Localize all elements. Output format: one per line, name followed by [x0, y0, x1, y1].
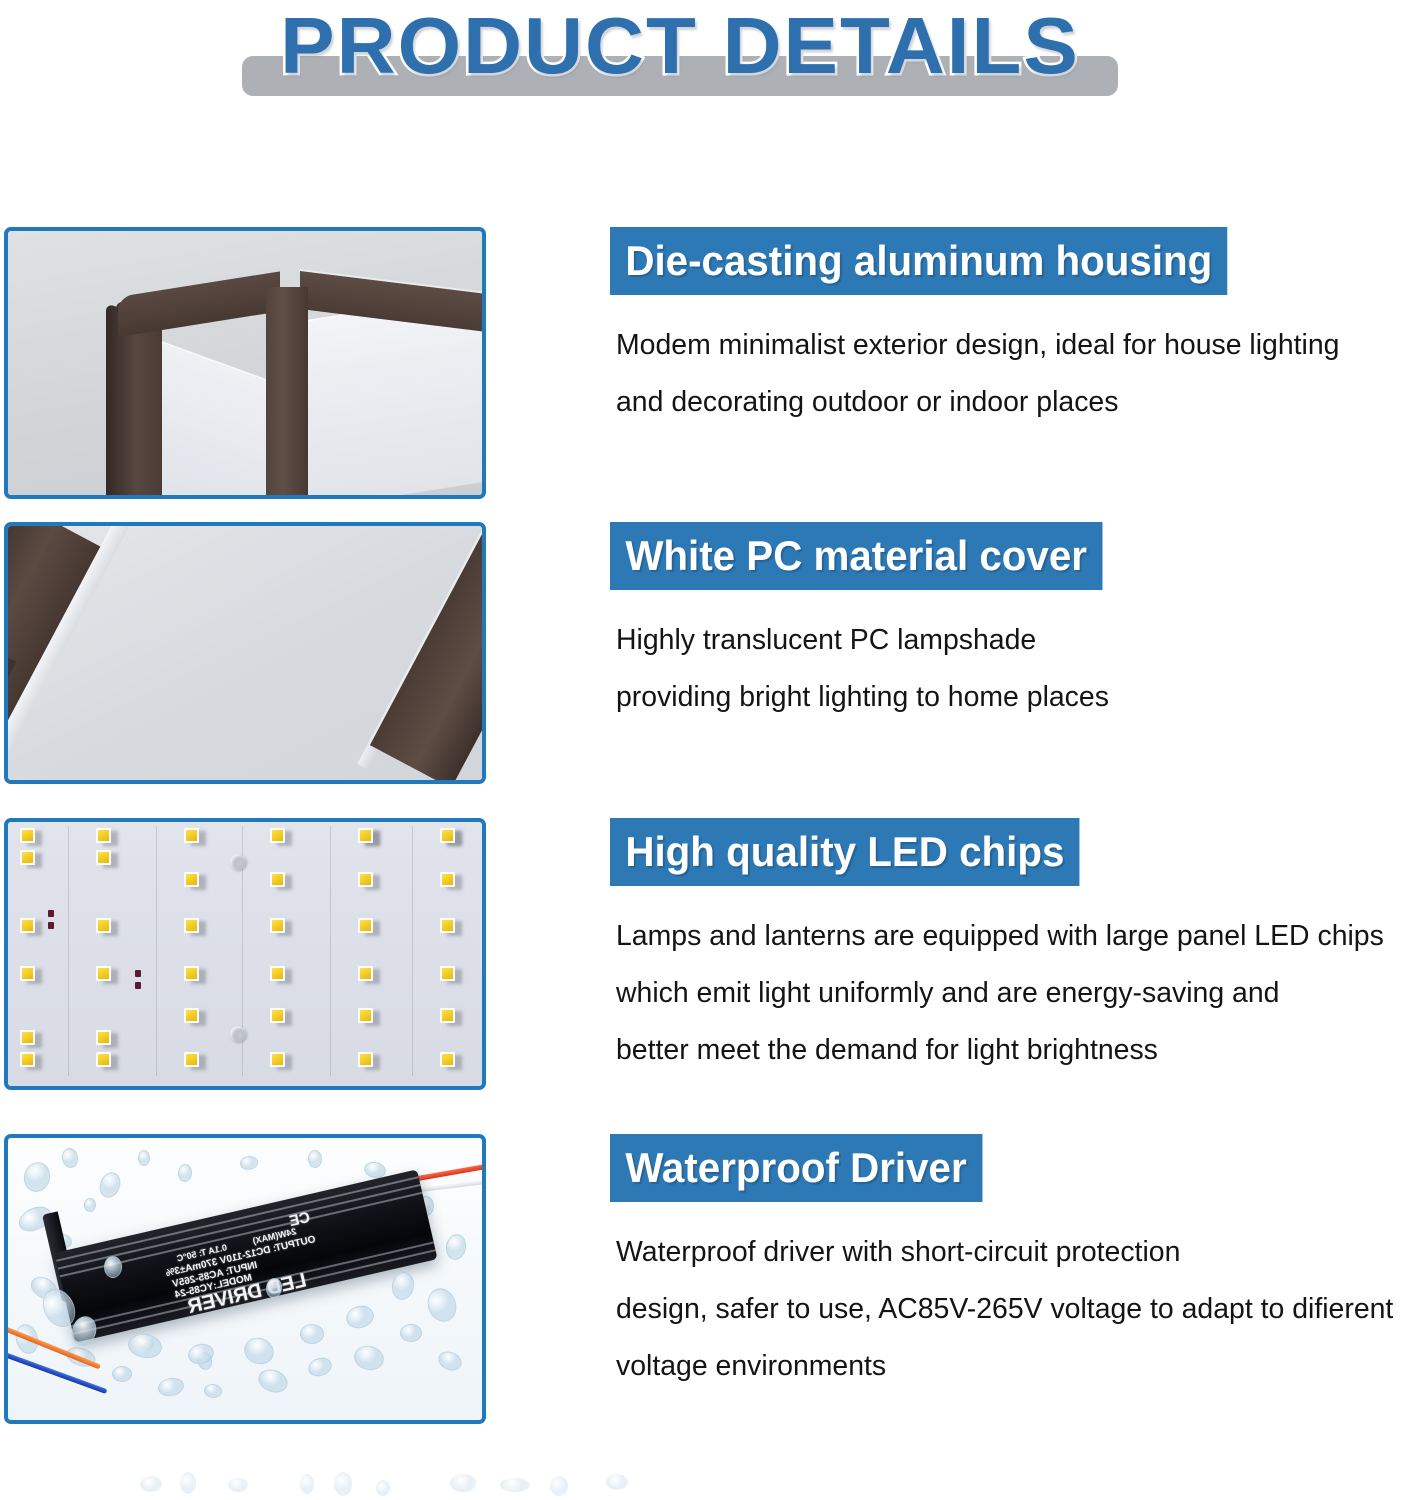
feature-heading-4: Waterproof Driver: [610, 1134, 982, 1202]
feature-3-line-3: better meet the demand for light brightn…: [616, 1022, 1384, 1079]
feature-row-1: Die-casting aluminum housing Modem minim…: [0, 227, 1401, 499]
pcb-resistor: [48, 922, 54, 929]
led-chip: [96, 966, 111, 981]
led-chip: [440, 1008, 455, 1023]
led-chip: [20, 828, 35, 843]
led-chip: [358, 918, 373, 933]
led-chip: [184, 1008, 199, 1023]
feature-text-2: White PC material cover Highly transluce…: [610, 522, 1400, 726]
water-droplet: [228, 1478, 248, 1492]
led-chip: [440, 828, 455, 843]
water-droplet: [500, 1478, 530, 1492]
feature-text-4: Waterproof Driver Waterproof driver with…: [610, 1134, 1400, 1395]
led-chip: [96, 1052, 111, 1067]
feature-text-1: Die-casting aluminum housing Modem minim…: [610, 227, 1400, 431]
feature-heading-1: Die-casting aluminum housing: [610, 227, 1228, 295]
water-droplet: [300, 1474, 314, 1494]
led-chip: [184, 828, 199, 843]
led-chip: [184, 918, 199, 933]
photo-led-chips: [4, 818, 486, 1090]
water-droplet: [300, 1324, 324, 1344]
water-droplet: [112, 1366, 132, 1382]
led-chip: [20, 1030, 35, 1045]
photo1-corner-post: [266, 287, 308, 499]
feature-4-line-3: voltage environments: [616, 1338, 1384, 1395]
led-chip: [270, 918, 285, 933]
led-chip: [440, 918, 455, 933]
water-droplet: [376, 1480, 390, 1496]
led-chip: [184, 872, 199, 887]
feature-3-line-1: Lamps and lanterns are equipped with lar…: [616, 908, 1384, 965]
pcb-mounting-hole: [230, 854, 246, 870]
water-droplet: [334, 1472, 352, 1496]
header-banner: PRODUCT DETAILS: [0, 0, 1401, 130]
led-chip: [270, 1052, 285, 1067]
led-chip: [270, 828, 285, 843]
led-chip: [358, 966, 373, 981]
led-chip: [358, 872, 373, 887]
led-chip: [184, 966, 199, 981]
led-chip: [270, 1008, 285, 1023]
page-title: PRODUCT DETAILS: [233, 0, 1127, 96]
led-chip: [96, 918, 111, 933]
feature-body-1: Modem minimalist exterior design, ideal …: [610, 317, 1400, 431]
pcb-trace: [156, 826, 157, 1076]
led-chip: [20, 850, 35, 865]
led-chip: [96, 850, 111, 865]
feature-body-2: Highly translucent PC lampshade providin…: [610, 612, 1400, 726]
feature-body-3: Lamps and lanterns are equipped with lar…: [610, 908, 1400, 1079]
water-droplet: [140, 1476, 162, 1492]
pcb-resistor: [48, 910, 54, 917]
feature-1-line-1: Modem minimalist exterior design, ideal …: [616, 317, 1384, 374]
water-droplet: [138, 1150, 150, 1166]
led-chip: [96, 828, 111, 843]
feature-4-line-1: Waterproof driver with short-circuit pro…: [616, 1224, 1384, 1281]
feature-2-line-1: Highly translucent PC lampshade: [616, 612, 1384, 669]
led-chip: [184, 1052, 199, 1067]
pcb-trace: [68, 826, 69, 1076]
feature-row-3: High quality LED chips Lamps and lantern…: [0, 818, 1401, 1090]
led-chip: [358, 1052, 373, 1067]
led-chip: [270, 872, 285, 887]
water-droplet: [104, 1256, 122, 1278]
water-droplet: [550, 1476, 568, 1496]
pcb-resistor: [135, 982, 141, 989]
feature-row-4: 0.1A T: 50°C 24W(MAX) OUTPUT: DC12-110V …: [0, 1134, 1401, 1424]
water-droplet: [606, 1474, 628, 1490]
photo-waterproof-driver: 0.1A T: 50°C 24W(MAX) OUTPUT: DC12-110V …: [4, 1134, 486, 1424]
driver-label-ce-mark: CE: [288, 1209, 312, 1230]
feature-heading-3: High quality LED chips: [610, 818, 1080, 886]
feature-1-line-2: and decorating outdoor or indoor places: [616, 374, 1384, 431]
led-chip: [440, 966, 455, 981]
water-droplet: [84, 1198, 96, 1212]
water-droplet: [400, 1324, 422, 1342]
pcb-mounting-hole: [230, 1026, 246, 1042]
led-chip: [270, 966, 285, 981]
feature-4-line-2: design, safer to use, AC85V-265V voltage…: [616, 1281, 1384, 1338]
feature-2-line-2: providing bright lighting to home places: [616, 669, 1384, 726]
water-droplet: [450, 1474, 476, 1492]
led-chip: [440, 1052, 455, 1067]
product-details-infographic: PRODUCT DETAILS Die-casting aluminum hou…: [0, 0, 1401, 1500]
water-droplet: [308, 1150, 322, 1168]
pcb-resistor: [135, 970, 141, 977]
led-chip: [20, 1052, 35, 1067]
feature-heading-2: White PC material cover: [610, 522, 1102, 590]
pcb-trace: [330, 826, 331, 1076]
photo-white-pc-cover: [4, 522, 486, 784]
feature-row-2: White PC material cover Highly transluce…: [0, 522, 1401, 784]
feature-3-line-2: which emit light uniformly and are energ…: [616, 965, 1384, 1022]
led-chip: [20, 966, 35, 981]
pcb-trace: [412, 826, 413, 1076]
led-chip: [440, 872, 455, 887]
led-chip: [96, 1030, 111, 1045]
led-chip: [20, 918, 35, 933]
bottom-water-splash: [120, 1470, 680, 1500]
led-chip: [358, 1008, 373, 1023]
photo-die-casting-housing: [4, 227, 486, 499]
feature-text-3: High quality LED chips Lamps and lantern…: [610, 818, 1400, 1079]
water-droplet: [180, 1472, 196, 1494]
led-chip: [358, 828, 373, 843]
feature-body-4: Waterproof driver with short-circuit pro…: [610, 1224, 1400, 1395]
